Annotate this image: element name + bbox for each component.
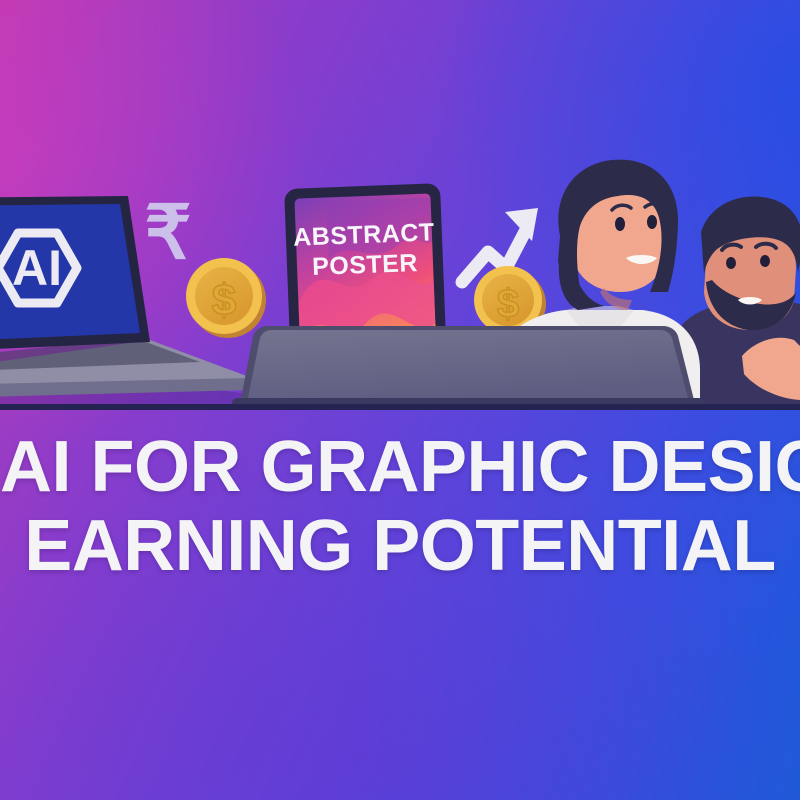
rupee-glyph: ₹ [144, 191, 191, 274]
headline-line-2: EARNING POTENTIAL [0, 511, 800, 582]
promo-banner: AI ₹ $ [0, 0, 800, 800]
headline-line-1: AI FOR GRAPHIC DESIGN [0, 432, 800, 503]
coin-left-icon: $ [186, 258, 266, 338]
hero-illustration: AI ₹ $ [0, 0, 800, 410]
coin-right-glyph: $ [497, 282, 519, 326]
page-title: AI FOR GRAPHIC DESIGN EARNING POTENTIAL [0, 432, 800, 581]
rupee-symbol-icon: ₹ [144, 191, 191, 274]
ai-logo-label: AI [12, 240, 62, 296]
poster-title-line-2: POSTER [312, 249, 419, 281]
poster-title-line-1: ABSTRACT [293, 218, 435, 251]
coin-left-glyph: $ [212, 276, 236, 325]
